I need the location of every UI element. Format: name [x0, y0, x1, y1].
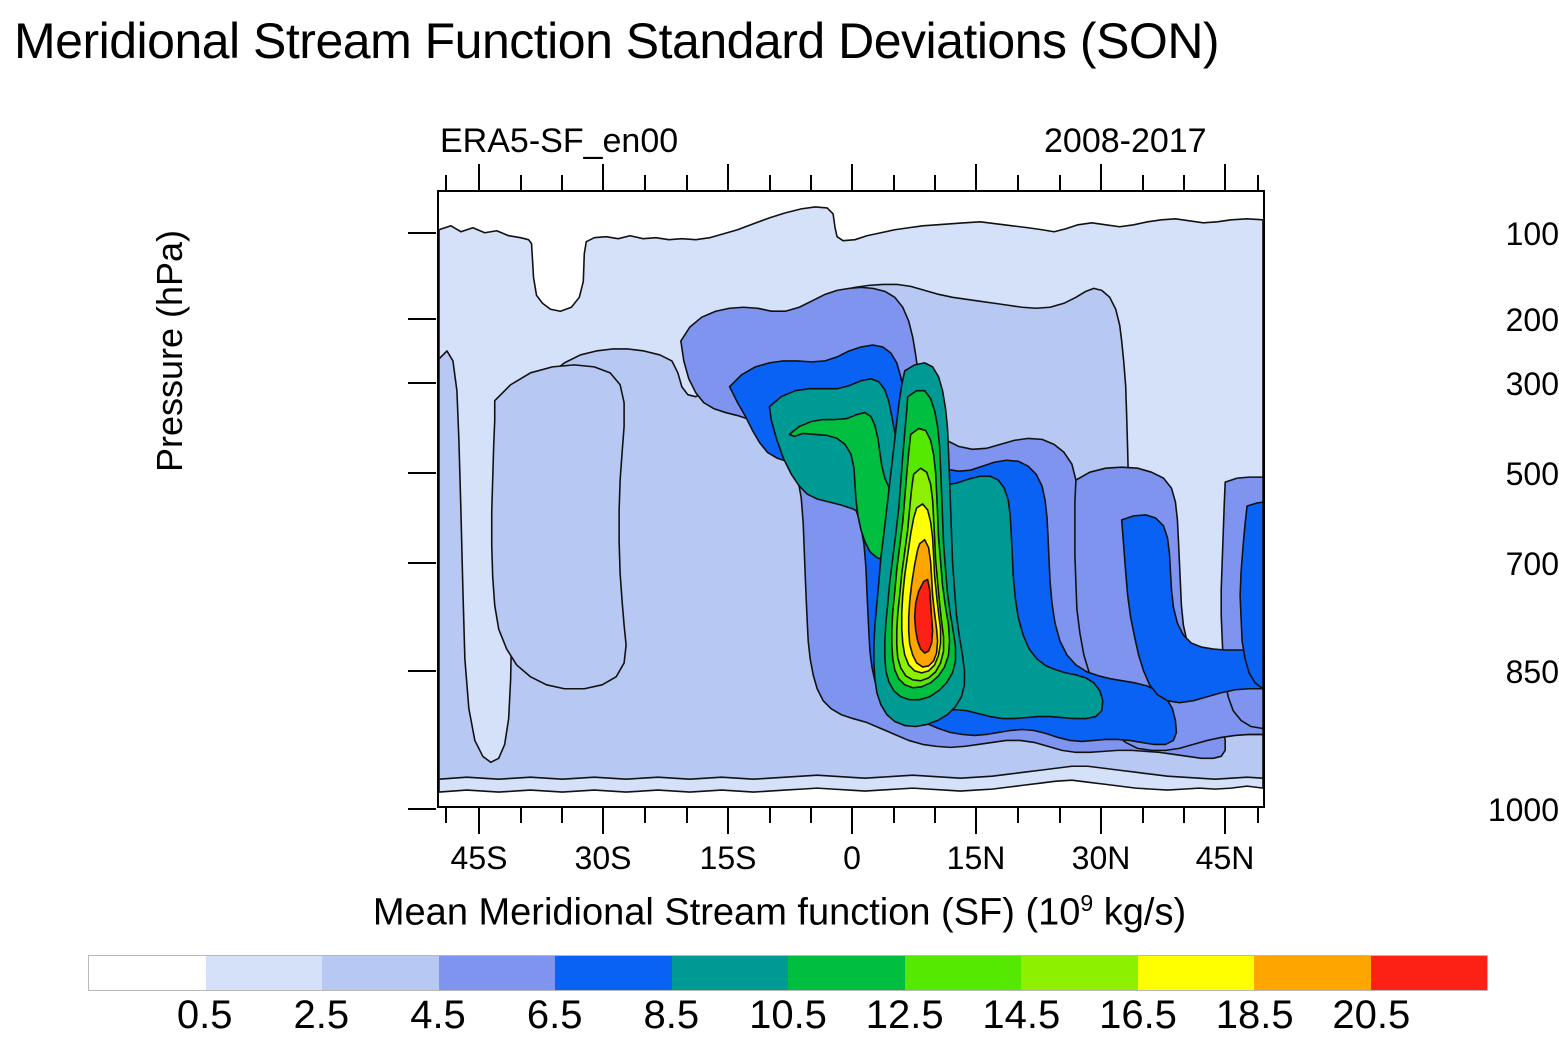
x-top-minor-tick — [1183, 175, 1185, 190]
colorbar-swatch-5 — [672, 956, 789, 990]
y-tick-mark-500 — [408, 472, 436, 474]
period-label: 2008-2017 — [1044, 122, 1207, 161]
x-top-minor-tick — [644, 175, 646, 190]
colorbar-tick-label-14.5: 14.5 — [982, 993, 1060, 1038]
colorbar-title-post: kg/s) — [1093, 892, 1186, 934]
colorbar-swatch-6 — [788, 956, 905, 990]
colorbar-title: Mean Meridional Stream function (SF) (10… — [0, 890, 1559, 935]
x-top-minor-tick — [934, 175, 936, 190]
colorbar-swatch-11 — [1371, 956, 1488, 990]
y-tick-mark-300 — [408, 382, 436, 384]
y-tick-label-500: 500 — [1169, 456, 1559, 493]
x-tick-mark-30S — [602, 808, 604, 834]
x-top-tick — [1224, 164, 1226, 190]
x-minor-tick — [1059, 808, 1061, 823]
y-axis-title: Pressure (hPa) — [149, 141, 191, 561]
x-tick-mark-0 — [851, 808, 853, 834]
y-tick-label-1000: 1000 — [1169, 792, 1559, 829]
x-top-minor-tick — [810, 175, 812, 190]
x-top-minor-tick — [445, 175, 447, 190]
x-tick-mark-15S — [727, 808, 729, 834]
colorbar-swatch-0 — [89, 956, 206, 990]
x-minor-tick — [561, 808, 563, 823]
x-top-tick — [478, 164, 480, 190]
x-minor-tick — [445, 808, 447, 823]
colorbar-tick-label-2.5: 2.5 — [294, 993, 350, 1038]
dataset-label: ERA5-SF_en00 — [440, 122, 678, 161]
colorbar-swatch-4 — [555, 956, 672, 990]
x-top-tick — [851, 164, 853, 190]
y-tick-mark-200 — [408, 318, 436, 320]
x-minor-tick — [1257, 808, 1259, 823]
x-minor-tick — [686, 808, 688, 823]
y-tick-mark-1000 — [408, 808, 436, 810]
x-top-minor-tick — [1017, 175, 1019, 190]
colorbar-tick-label-4.5: 4.5 — [410, 993, 466, 1038]
x-top-minor-tick — [1257, 175, 1259, 190]
colorbar — [88, 955, 1488, 991]
x-top-minor-tick — [769, 175, 771, 190]
x-tick-mark-15N — [975, 808, 977, 834]
x-tick-mark-30N — [1100, 808, 1102, 834]
x-minor-tick — [1017, 808, 1019, 823]
colorbar-swatch-7 — [905, 956, 1022, 990]
colorbar-tick-label-10.5: 10.5 — [749, 993, 827, 1038]
colorbar-title-exponent: 9 — [1080, 890, 1093, 916]
contour-canvas — [439, 192, 1263, 806]
colorbar-tick-label-20.5: 20.5 — [1332, 993, 1410, 1038]
x-minor-tick — [1183, 808, 1185, 823]
x-top-minor-tick — [686, 175, 688, 190]
colorbar-swatch-1 — [206, 956, 323, 990]
y-tick-label-200: 200 — [1169, 302, 1559, 339]
colorbar-tick-label-8.5: 8.5 — [644, 993, 700, 1038]
colorbar-swatch-10 — [1254, 956, 1371, 990]
y-tick-label-850: 850 — [1169, 654, 1559, 691]
x-top-tick — [727, 164, 729, 190]
x-minor-tick — [1142, 808, 1144, 823]
colorbar-labels: 0.52.54.56.58.510.512.514.516.518.520.5 — [88, 993, 1488, 1041]
y-tick-mark-100 — [408, 232, 436, 234]
x-tick-label-45N: 45N — [1150, 840, 1300, 877]
colorbar-swatch-8 — [1021, 956, 1138, 990]
colorbar-tick-label-0.5: 0.5 — [177, 993, 233, 1038]
colorbar-swatch-2 — [322, 956, 439, 990]
x-top-minor-tick — [1142, 175, 1144, 190]
y-tick-label-700: 700 — [1169, 546, 1559, 583]
x-top-minor-tick — [520, 175, 522, 190]
x-minor-tick — [769, 808, 771, 823]
x-top-minor-tick — [561, 175, 563, 190]
x-top-tick — [975, 164, 977, 190]
x-minor-tick — [810, 808, 812, 823]
x-minor-tick — [520, 808, 522, 823]
x-top-minor-tick — [1059, 175, 1061, 190]
x-minor-tick — [644, 808, 646, 823]
colorbar-tick-label-18.5: 18.5 — [1216, 993, 1294, 1038]
y-tick-mark-700 — [408, 562, 436, 564]
colorbar-tick-label-12.5: 12.5 — [866, 993, 944, 1038]
x-top-tick — [602, 164, 604, 190]
colorbar-swatch-9 — [1138, 956, 1255, 990]
x-top-tick — [1100, 164, 1102, 190]
contour-plot — [437, 190, 1265, 808]
colorbar-title-pre: Mean Meridional Stream function (SF) (10 — [373, 892, 1081, 934]
y-tick-label-100: 100 — [1169, 216, 1559, 253]
colorbar-swatch-3 — [439, 956, 556, 990]
x-top-minor-tick — [893, 175, 895, 190]
colorbar-tick-label-6.5: 6.5 — [527, 993, 583, 1038]
y-tick-mark-850 — [408, 670, 436, 672]
x-tick-mark-45N — [1224, 808, 1226, 834]
colorbar-tick-label-16.5: 16.5 — [1099, 993, 1177, 1038]
x-minor-tick — [934, 808, 936, 823]
x-minor-tick — [893, 808, 895, 823]
page-title: Meridional Stream Function Standard Devi… — [14, 12, 1545, 70]
x-tick-mark-45S — [478, 808, 480, 834]
y-tick-label-300: 300 — [1169, 366, 1559, 403]
